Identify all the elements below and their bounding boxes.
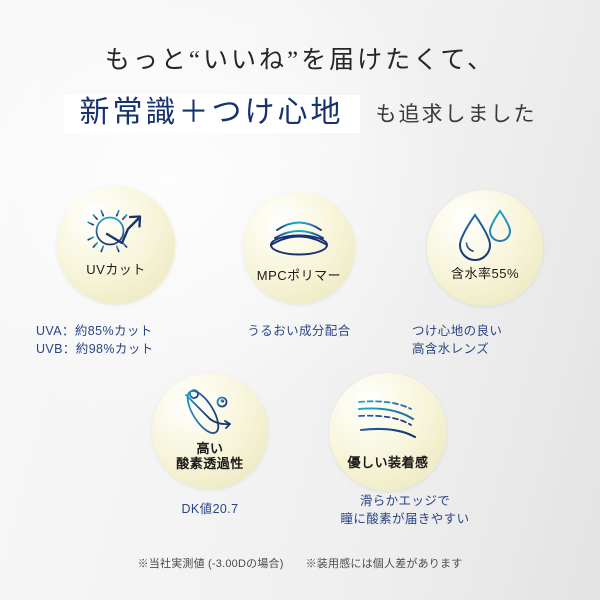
feature-caption-uv-cut: UVA：約85%カット UVB：約98%カット: [36, 322, 196, 358]
subheadline-highlight-text: 新常識＋つけ心地: [80, 98, 344, 128]
feature-circle-gentle-fit: 優しい装着感: [329, 373, 447, 491]
subheadline-highlight-band: 新常識＋つけ心地: [64, 95, 360, 133]
footnote-measured-value: ※当社実測値 (-3.00Dの場合): [138, 555, 284, 571]
feature-caption-water-content: つけ心地の良い 高含水レンズ: [412, 322, 582, 358]
subheadline-row: 新常識＋つけ心地 も追求しました: [0, 88, 600, 140]
feature-caption-gentle-fit: 滑らかエッジで 瞳に酸素が届きやすい: [305, 492, 505, 528]
feature-circle-water-content: 含水率55%: [427, 190, 543, 306]
feature-label-uv-cut: UVカット: [86, 262, 146, 277]
feature-circle-oxygen-permeability: 高い 酸素透過性: [152, 373, 268, 489]
footnote-individual-differences: ※装用感には個人差があります: [306, 555, 463, 571]
oxygen-lens-arrow-icon: [177, 385, 243, 439]
lens-dome-moisture-icon: [263, 208, 335, 266]
subheadline-tail-text: も追求しました: [376, 104, 537, 125]
water-droplets-icon: [453, 206, 517, 264]
feature-label-water-content: 含水率55%: [451, 266, 519, 281]
feature-caption-mpc-polymer: うるおい成分配合: [219, 322, 379, 340]
feature-circle-uv-cut: UVカット: [57, 186, 175, 304]
smooth-edge-curves-icon: [351, 389, 425, 447]
feature-label-oxygen-permeability: 高い 酸素透過性: [176, 441, 244, 472]
feature-caption-oxygen-permeability: DK値20.7: [130, 500, 290, 518]
feature-label-gentle-fit: 優しい装着感: [347, 455, 428, 470]
feature-circle-mpc-polymer: MPCポリマー: [243, 192, 355, 304]
page-headline: もっと“いいね”を届けたくて、: [0, 40, 600, 76]
footnote-row: ※当社実測値 (-3.00Dの場合) ※装用感には個人差があります: [0, 555, 600, 571]
feature-label-mpc-polymer: MPCポリマー: [257, 268, 341, 283]
sun-uv-arrow-icon: [83, 202, 149, 260]
infographic-page: もっと“いいね”を届けたくて、 新常識＋つけ心地 も追求しました: [0, 0, 600, 600]
